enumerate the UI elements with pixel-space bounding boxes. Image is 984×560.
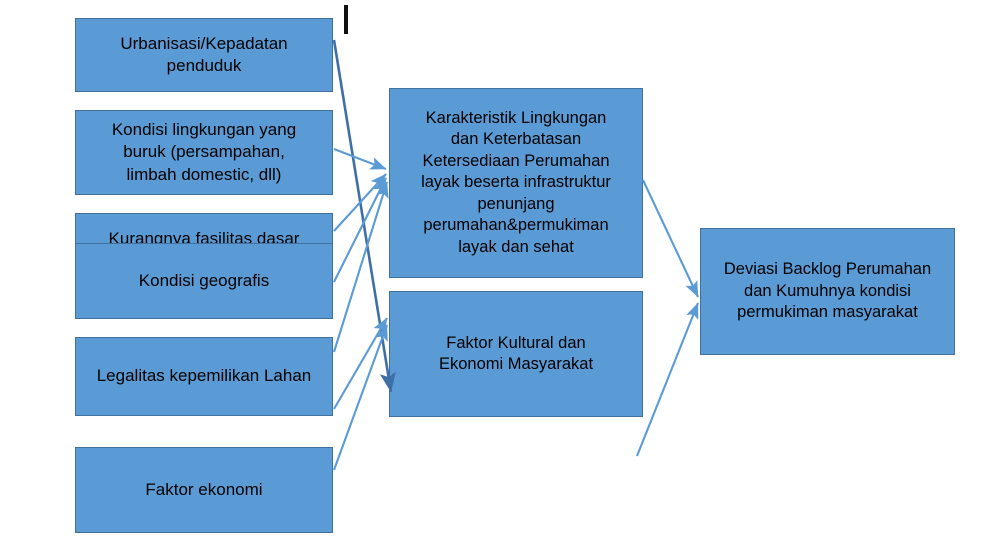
text-caret (344, 5, 348, 34)
node-urbanisasi-kepadatan-penduduk[interactable]: Urbanisasi/Kepadatan penduduk (75, 18, 333, 92)
connector-fasilitas-to-karakteristik (334, 174, 386, 231)
node-legalitas-kepemilikan-lahan[interactable]: Legalitas kepemilikan Lahan (75, 337, 333, 416)
node-kondisi-geografis[interactable]: Kondisi geografis (75, 243, 333, 319)
connector-faktor-ekonomi-to-kultural (334, 325, 387, 470)
node-faktor-ekonomi[interactable]: Faktor ekonomi (75, 447, 333, 533)
node-faktor-kultural-ekonomi-masyarakat[interactable]: Faktor Kultural dan Ekonomi Masyarakat (389, 291, 643, 417)
node-deviasi-backlog-perumahan[interactable]: Deviasi Backlog Perumahan dan Kumuhnya k… (700, 228, 955, 355)
node-label: Karakteristik Lingkungan dan Keterbatasa… (390, 108, 642, 258)
connector-karakteristik-to-deviasi (643, 180, 698, 297)
connector-legalitas-to-karakteristik (334, 182, 387, 352)
connector-urbanisasi-to-kultural (334, 40, 391, 392)
node-kondisi-lingkungan-buruk[interactable]: Kondisi lingkungan yang buruk (persampah… (75, 110, 333, 195)
connector-lower-to-deviasi (637, 303, 698, 456)
node-label: Faktor Kultural dan Ekonomi Masyarakat (390, 333, 642, 376)
diagram-canvas: Urbanisasi/Kepadatan penduduk Kondisi li… (0, 0, 984, 560)
connector-lingkungan-to-karakteristik (334, 149, 386, 169)
node-label: Urbanisasi/Kepadatan penduduk (76, 33, 332, 77)
node-label: Kondisi lingkungan yang buruk (persampah… (76, 119, 332, 185)
connector-legalitas-to-kultural (334, 318, 387, 409)
node-karakteristik-lingkungan[interactable]: Karakteristik Lingkungan dan Keterbatasa… (389, 88, 643, 278)
node-label: Kondisi geografis (76, 270, 332, 292)
node-label: Faktor ekonomi (76, 479, 332, 501)
connector-geografis-to-karakteristik (334, 178, 386, 282)
node-label: Legalitas kepemilikan Lahan (76, 365, 332, 387)
node-label: Deviasi Backlog Perumahan dan Kumuhnya k… (701, 259, 954, 323)
